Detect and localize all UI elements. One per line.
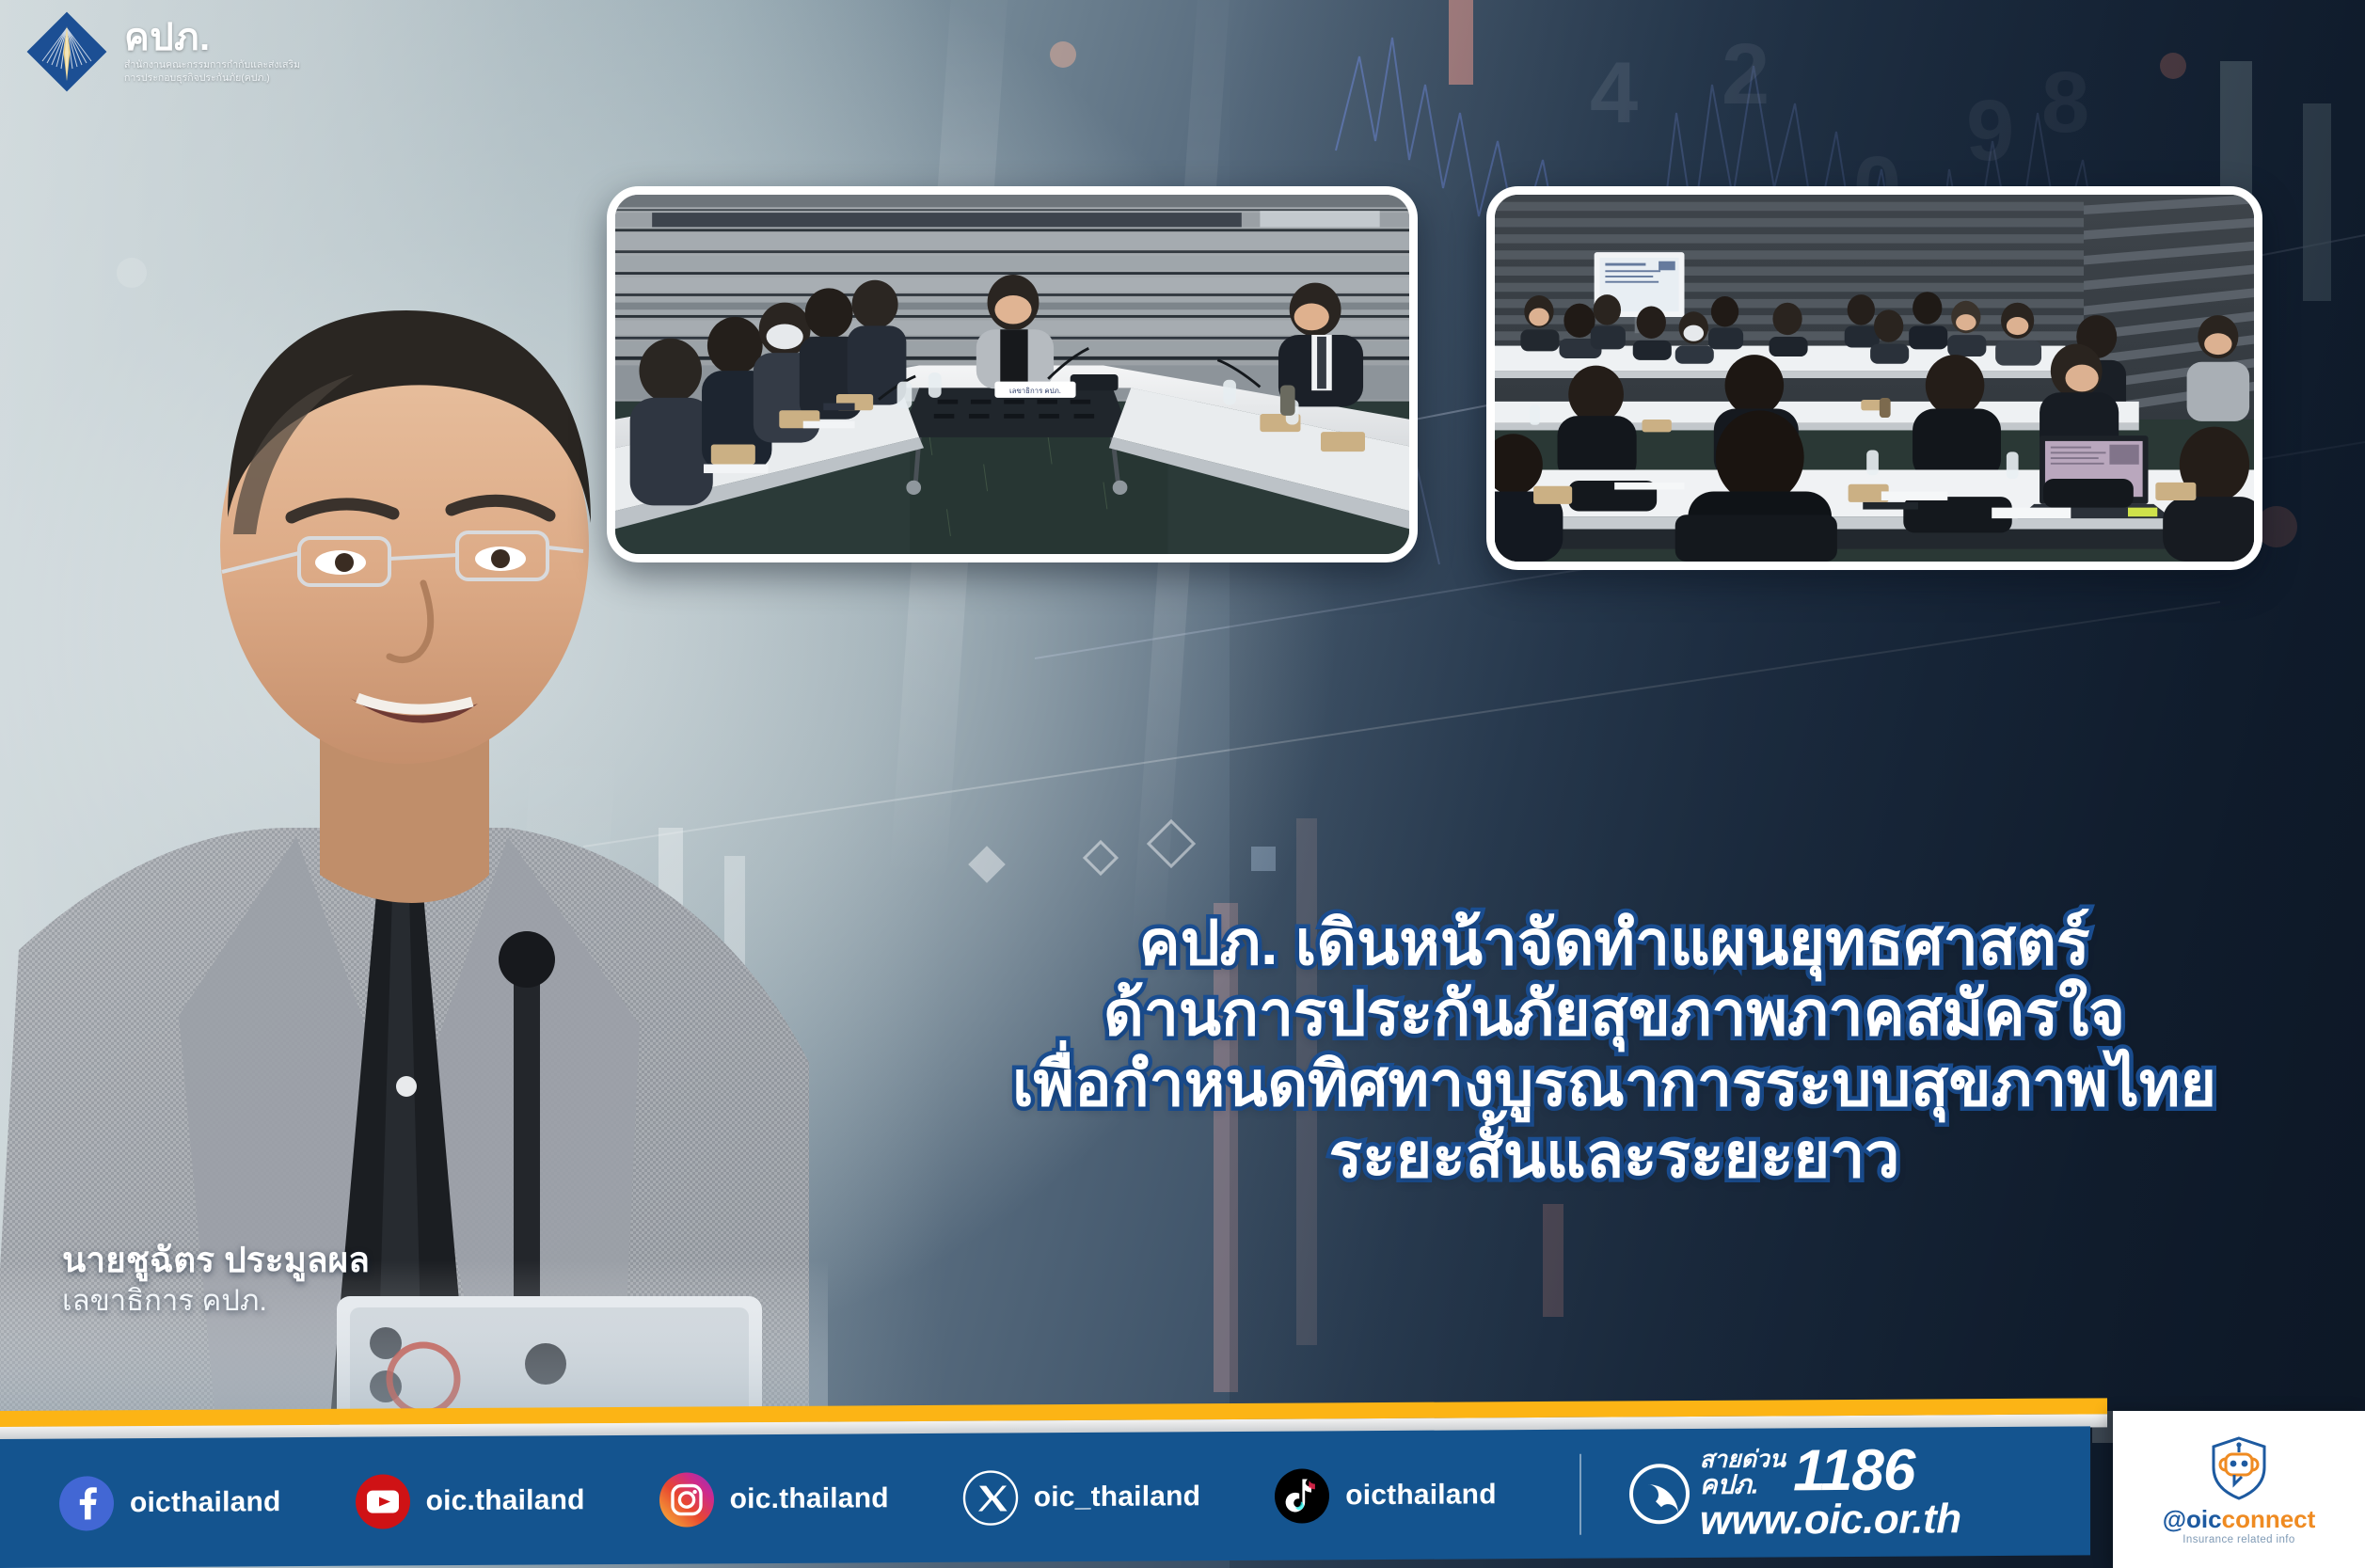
social-instagram[interactable]: oic.thailand: [659, 1470, 889, 1528]
footer-divider: [1579, 1453, 1581, 1534]
social-facebook[interactable]: oicthailand: [58, 1474, 281, 1531]
logo-acronym: คปภ.: [124, 19, 300, 56]
hotline-block[interactable]: สายด่วน คปภ. 1186 www.oic.or.th: [1625, 1443, 1961, 1542]
hotline-number: 1186: [1793, 1444, 1914, 1498]
social-youtube[interactable]: oic.thailand: [355, 1472, 585, 1529]
youtube-icon: [355, 1473, 411, 1529]
social-facebook-handle: oicthailand: [130, 1486, 281, 1519]
social-links: oicthailand oic.thailand: [0, 1465, 1570, 1531]
hotline-label-line2: คปภ.: [1700, 1471, 1786, 1498]
logo-subtitle-line2: การประกอบธุรกิจประกันภัย(คปภ.): [124, 72, 300, 85]
oicconnect-tagline: Insurance related info: [2182, 1534, 2294, 1545]
svg-text:เลขาธิการ คปภ.: เลขาธิการ คปภ.: [1009, 387, 1061, 395]
social-x-handle: oic_thailand: [1034, 1481, 1200, 1513]
headline-block: คปภ. เดินหน้าจัดทำแผนยุทธศาสตร์ ด้านการป…: [918, 908, 2310, 1191]
speaker-title: เลขาธิการ คปภ.: [62, 1283, 370, 1318]
social-youtube-handle: oic.thailand: [426, 1484, 585, 1517]
oicconnect-name-prefix: @oic: [2163, 1505, 2222, 1533]
meeting-room-audience-photo: [1486, 186, 2262, 570]
speaker-name: นายชูฉัตร ประมูลผล: [62, 1240, 370, 1281]
x-twitter-icon: [962, 1469, 1019, 1526]
facebook-icon: [58, 1475, 115, 1531]
social-tiktok-handle: oicthailand: [1345, 1479, 1497, 1512]
headline-line-1: คปภ. เดินหน้าจัดทำแผนยุทธศาสตร์: [918, 908, 2310, 978]
headline-line-4: ระยะสั้นและระยะยาว: [918, 1120, 2310, 1191]
poster-canvas: 42 98 0: [0, 0, 2365, 1568]
social-instagram-handle: oic.thailand: [730, 1482, 889, 1515]
oicconnect-name-suffix: connect: [2222, 1505, 2316, 1533]
phone-icon: [1625, 1458, 1694, 1528]
photo-gallery: เลขาธิการ คปภ.: [607, 186, 2262, 581]
hotline-label-line1: สายด่วน: [1700, 1448, 1786, 1472]
tiktok-icon: [1274, 1467, 1330, 1524]
social-tiktok[interactable]: oicthailand: [1274, 1466, 1497, 1524]
headline-line-2: ด้านการประกันภัยสุขภาพภาคสมัครใจ: [918, 978, 2310, 1049]
headline-line-3: เพื่อกำหนดทิศทางบูรณาการระบบสุขภาพไทย: [918, 1049, 2310, 1119]
oicconnect-badge[interactable]: @oicconnect Insurance related info: [2113, 1411, 2365, 1568]
speaker-caption: นายชูฉัตร ประมูลผล เลขาธิการ คปภ.: [62, 1240, 370, 1318]
oic-diamond-bridge-logo-icon: [26, 11, 107, 92]
footer-content: oicthailand oic.thailand: [0, 1426, 2090, 1568]
oic-logo: คปภ. สำนักงานคณะกรรมการกำกับและส่งเสริม …: [26, 11, 300, 92]
chatbot-shield-icon: [2204, 1433, 2274, 1503]
instagram-icon: [659, 1471, 715, 1528]
meeting-room-u-table-photo: เลขาธิการ คปภ.: [607, 186, 1418, 562]
social-x-twitter[interactable]: oic_thailand: [962, 1468, 1200, 1527]
website-url[interactable]: www.oic.or.th: [1700, 1498, 1961, 1542]
logo-subtitle-line1: สำนักงานคณะกรรมการกำกับและส่งเสริม: [124, 59, 300, 71]
